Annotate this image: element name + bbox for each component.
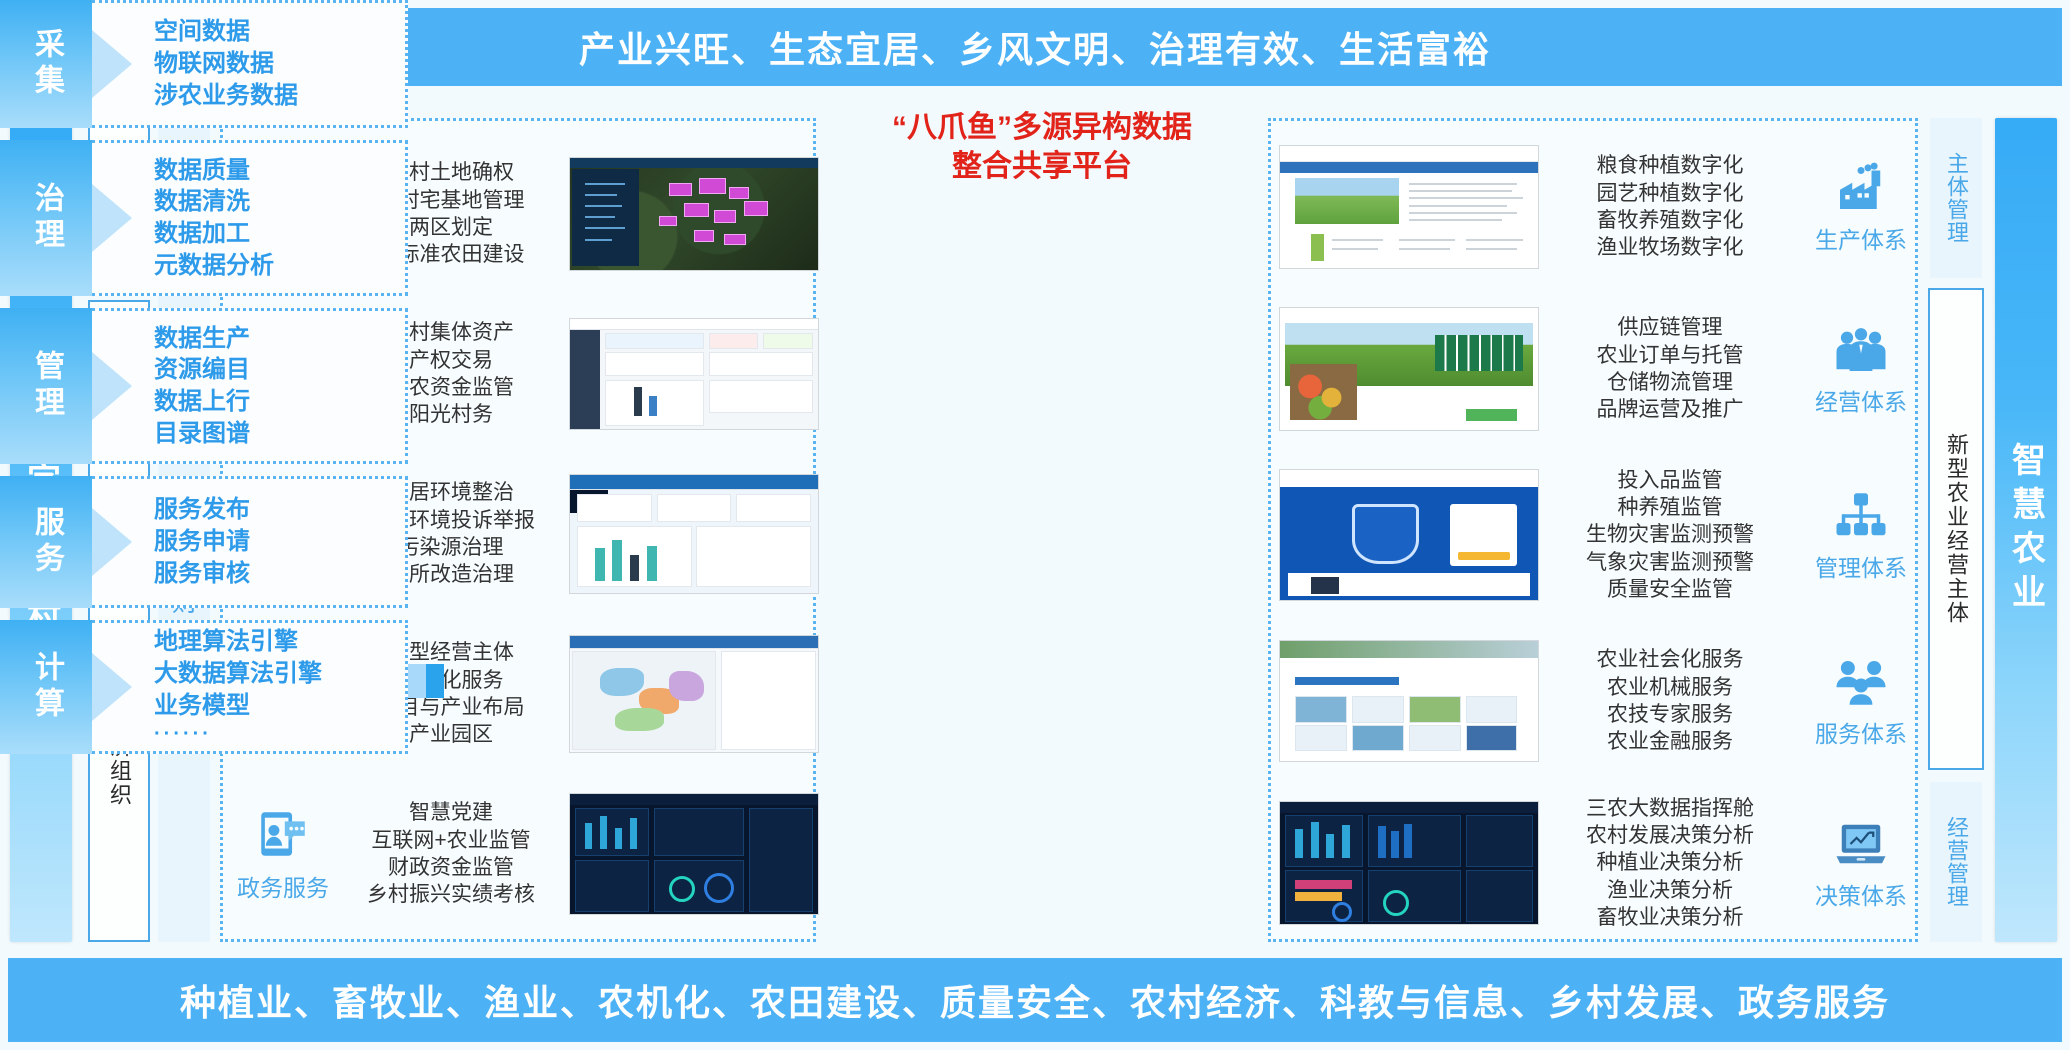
- flow-item: 服务审核: [154, 558, 250, 590]
- system-row-management[interactable]: 投入品监管 种养殖监管 生物灾害监测预警 气象灾害监测预警 质量安全监管 管理体…: [1271, 455, 1921, 615]
- flow-body: 服务发布 服务申请 服务审核: [92, 476, 408, 608]
- system-row-service[interactable]: 农业社会化服务 农业机械服务 农技专家服务 农业金融服务 服务体系: [1271, 625, 1921, 777]
- function-row-government-service[interactable]: 政务服务 智慧党建 互联网+农业监管 财政资金监管 乡村振兴实绩考核: [223, 779, 819, 929]
- flow-item: 涉农业务数据: [154, 80, 298, 112]
- flow-connector-right: [408, 664, 444, 698]
- flow-item-ellipsis: ······: [154, 721, 322, 747]
- flow-item: 空间数据: [154, 16, 298, 48]
- system-item: 投入品监管: [1543, 467, 1797, 494]
- three-people-icon: [1833, 654, 1889, 710]
- flow-tag: 采集: [0, 0, 92, 128]
- flow-body: 数据质量 数据清洗 数据加工 元数据分析: [92, 140, 408, 296]
- flow-tag: 计算: [0, 620, 92, 754]
- system-item: 农业订单与托管: [1543, 342, 1797, 369]
- system-item: 畜牧业决策分析: [1543, 904, 1797, 931]
- bottom-banner: 种植业、畜牧业、渔业、农机化、农田建设、质量安全、农村经济、科教与信息、乡村发展…: [8, 958, 2062, 1042]
- system-item: 渔业牧场数字化: [1543, 234, 1797, 261]
- platform-title-line1: “八爪鱼”多源异构数据: [838, 108, 1246, 147]
- system-item: 仓储物流管理: [1543, 369, 1797, 396]
- system-item: 质量安全监管: [1543, 576, 1797, 603]
- system-caption: 决策体系: [1815, 877, 1907, 911]
- system-item: 品牌运营及推广: [1543, 396, 1797, 423]
- screenshot-gis-map-dashboard[interactable]: [569, 635, 819, 753]
- system-item: 供应链管理: [1543, 314, 1797, 341]
- function-item: 财政资金监管: [339, 854, 563, 881]
- system-caption: 经营体系: [1815, 383, 1907, 417]
- screenshot-satellite-parcel-map[interactable]: [569, 157, 819, 271]
- system-item: 农村发展决策分析: [1543, 822, 1797, 849]
- flow-item: 服务发布: [154, 494, 250, 526]
- flow-body: 空间数据 物联网数据 涉农业务数据: [92, 0, 408, 128]
- right-rail-label: 智慧农业: [2002, 442, 2051, 618]
- system-row-decision[interactable]: 三农大数据指挥舱 农村发展决策分析 种植业决策分析 渔业决策分析 畜牧业决策分析…: [1271, 787, 1921, 939]
- system-item: 农业社会化服务: [1543, 646, 1797, 673]
- system-icon-wrap: 管理体系: [1801, 488, 1921, 583]
- flow-item: 资源编目: [154, 354, 250, 386]
- flow-block-governance[interactable]: 治理 数据质量 数据清洗 数据加工 元数据分析: [0, 140, 408, 296]
- system-items: 投入品监管 种养殖监管 生物灾害监测预警 气象灾害监测预警 质量安全监管: [1539, 467, 1801, 603]
- flow-block-service[interactable]: 服务 服务发布 服务申请 服务审核: [0, 476, 408, 608]
- flow-body: 地理算法引擎 大数据算法引擎 业务模型 ······: [92, 620, 408, 754]
- right-label-text: 经营管理: [1940, 816, 1972, 908]
- screenshot-finance-dashboard[interactable]: [569, 318, 819, 430]
- flow-item: 数据生产: [154, 323, 250, 355]
- people-group-icon: [1833, 322, 1889, 378]
- function-caption: 政务服务: [237, 869, 329, 903]
- flow-item: 目录图谱: [154, 418, 250, 450]
- flow-block-management[interactable]: 管理 数据生产 资源编目 数据上行 目录图谱: [0, 308, 408, 464]
- bottom-banner-text: 种植业、畜牧业、渔业、农机化、农田建设、质量安全、农村经济、科教与信息、乡村发展…: [180, 974, 1890, 1026]
- system-item: 种植业决策分析: [1543, 849, 1797, 876]
- flow-item: 服务申请: [154, 526, 250, 558]
- screenshot-analytics-dashboard[interactable]: [569, 474, 819, 594]
- system-item: 园艺种植数字化: [1543, 180, 1797, 207]
- system-items: 三农大数据指挥舱 农村发展决策分析 种植业决策分析 渔业决策分析 畜牧业决策分析: [1539, 795, 1801, 931]
- screenshot-bigdata-cockpit[interactable]: [1271, 801, 1539, 925]
- flow-item: 数据清洗: [154, 186, 274, 218]
- right-label-entity-management: 主体管理: [1930, 118, 1982, 278]
- factory-icon: [1833, 160, 1889, 216]
- system-items: 供应链管理 农业订单与托管 仓储物流管理 品牌运营及推广: [1539, 314, 1801, 423]
- right-box-new-agri-entity: 新型农业经营主体: [1928, 288, 1984, 770]
- system-caption: 生产体系: [1815, 221, 1907, 255]
- system-icon-wrap: 服务体系: [1801, 654, 1921, 749]
- system-caption: 管理体系: [1815, 549, 1907, 583]
- screenshot-vegetable-trace-site[interactable]: [1271, 307, 1539, 431]
- flow-block-compute[interactable]: 计算 地理算法引擎 大数据算法引擎 业务模型 ······: [0, 620, 408, 754]
- system-item: 种养殖监管: [1543, 494, 1797, 521]
- platform-title-line2: 整合共享平台: [838, 147, 1246, 186]
- right-label-text: 主体管理: [1940, 152, 1972, 244]
- flow-item: 元数据分析: [154, 250, 274, 282]
- function-items: 智慧党建 互联网+农业监管 财政资金监管 乡村振兴实绩考核: [333, 799, 569, 908]
- system-icon-wrap: 经营体系: [1801, 322, 1921, 417]
- screenshot-service-portal-grid[interactable]: [1271, 640, 1539, 762]
- system-row-production[interactable]: 粮食种植数字化 园艺种植数字化 畜牧养殖数字化 渔业牧场数字化 生产体系: [1271, 131, 1921, 283]
- system-item: 气象灾害监测预警: [1543, 549, 1797, 576]
- flow-tag: 管理: [0, 308, 92, 464]
- flow-body: 数据生产 资源编目 数据上行 目录图谱: [92, 308, 408, 464]
- org-chart-icon: [1833, 488, 1889, 544]
- function-item: 智慧党建: [339, 799, 563, 826]
- flow-item: 地理算法引擎: [154, 626, 322, 658]
- screenshot-dark-command-center[interactable]: [569, 793, 819, 915]
- system-item: 农业机械服务: [1543, 674, 1797, 701]
- mobile-service-icon: [254, 805, 312, 863]
- top-banner-text: 产业兴旺、生态宜居、乡风文明、治理有效、生活富裕: [579, 21, 1491, 73]
- system-item: 农技专家服务: [1543, 701, 1797, 728]
- system-item: 三农大数据指挥舱: [1543, 795, 1797, 822]
- system-item: 畜牧养殖数字化: [1543, 207, 1797, 234]
- system-item: 粮食种植数字化: [1543, 152, 1797, 179]
- flow-tag: 治理: [0, 140, 92, 296]
- platform-title: “八爪鱼”多源异构数据 整合共享平台: [838, 108, 1246, 186]
- function-item: 互联网+农业监管: [339, 827, 563, 854]
- flow-item: 物联网数据: [154, 48, 298, 80]
- system-item: 农业金融服务: [1543, 728, 1797, 755]
- flow-item: 业务模型: [154, 690, 322, 722]
- laptop-chart-icon: [1833, 816, 1889, 872]
- flow-item: 数据质量: [154, 155, 274, 187]
- system-item: 生物灾害监测预警: [1543, 521, 1797, 548]
- right-label-operation-management: 经营管理: [1930, 782, 1982, 942]
- system-icon-wrap: 生产体系: [1801, 160, 1921, 255]
- system-row-operation[interactable]: 供应链管理 农业订单与托管 仓储物流管理 品牌运营及推广 经营体系: [1271, 293, 1921, 445]
- flow-item: 数据加工: [154, 218, 274, 250]
- flow-item: 数据上行: [154, 386, 250, 418]
- system-icon-wrap: 决策体系: [1801, 816, 1921, 911]
- screenshot-food-safety-platform[interactable]: [1271, 469, 1539, 601]
- right-box-label: 新型农业经营主体: [1940, 433, 1972, 625]
- smart-agriculture-panel: 粮食种植数字化 园艺种植数字化 畜牧养殖数字化 渔业牧场数字化 生产体系: [1268, 118, 1918, 942]
- system-item: 渔业决策分析: [1543, 877, 1797, 904]
- flow-item: 大数据算法引擎: [154, 658, 322, 690]
- system-items: 粮食种植数字化 园艺种植数字化 畜牧养殖数字化 渔业牧场数字化: [1539, 152, 1801, 261]
- flow-block-collect[interactable]: 采集 空间数据 物联网数据 涉农业务数据: [0, 0, 408, 128]
- system-items: 农业社会化服务 农业机械服务 农技专家服务 农业金融服务: [1539, 646, 1801, 755]
- flow-tag: 服务: [0, 476, 92, 608]
- screenshot-agri-portal-site[interactable]: [1271, 145, 1539, 269]
- function-icon-wrap: 政务服务: [223, 805, 333, 903]
- system-caption: 服务体系: [1815, 715, 1907, 749]
- right-rail-smart-agriculture: 智慧农业: [1995, 118, 2057, 942]
- function-item: 乡村振兴实绩考核: [339, 881, 563, 908]
- data-platform-flow: 采集 空间数据 物联网数据 涉农业务数据 治理 数据质量 数据清洗 数据加工 元…: [0, 0, 408, 754]
